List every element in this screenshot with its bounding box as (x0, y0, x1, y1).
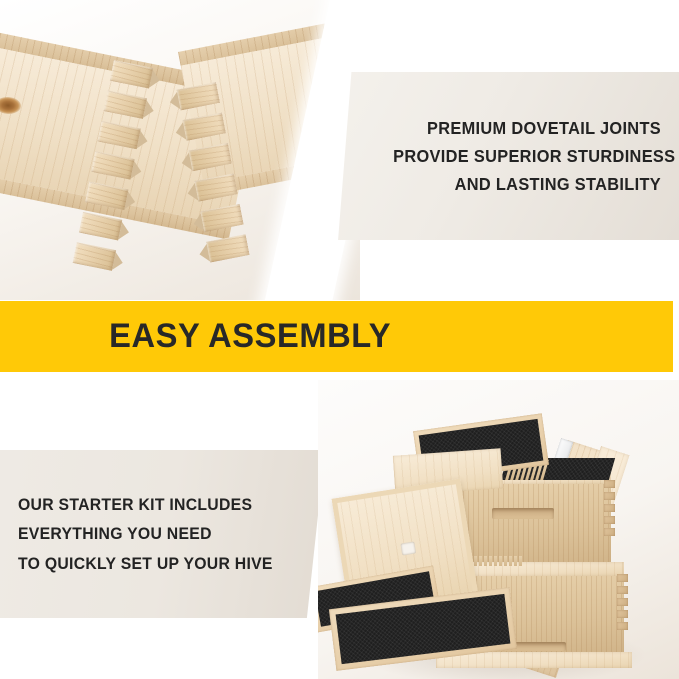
hive-box-upper-handle (492, 508, 554, 519)
frame-slat (489, 556, 492, 566)
frame-slat (474, 556, 477, 566)
easy-assembly-banner: EASY ASSEMBLY (0, 301, 673, 372)
dovetail-pin (617, 574, 628, 582)
frame-slat (509, 556, 512, 566)
dovetail-pin (604, 480, 615, 488)
joint-tab (189, 143, 232, 171)
frame-slat (514, 556, 517, 566)
joint-tab (183, 113, 226, 141)
feature-text-panel-top: PREMIUM DOVETAIL JOINTS PROVIDE SUPERIOR… (336, 72, 679, 240)
feature-text-panel-bottom: OUR STARTER KIT INCLUDES EVERYTHING YOU … (0, 450, 330, 618)
joint-tab (79, 212, 122, 241)
feature-top-line-1: PREMIUM DOVETAIL JOINTS (393, 114, 661, 142)
dovetail-pins-upper-right (604, 480, 615, 536)
dovetail-pin (617, 622, 628, 630)
dovetail-pin (604, 504, 615, 512)
frame-slat (479, 556, 482, 566)
joint-tab (194, 173, 237, 201)
frame-slat (504, 556, 507, 566)
frame-slat (484, 556, 487, 566)
frame-slat (494, 556, 497, 566)
product-feature-graphic: PREMIUM DOVETAIL JOINTS PROVIDE SUPERIOR… (0, 0, 679, 679)
feature-top-line-2: PROVIDE SUPERIOR STURDINESS (393, 142, 661, 170)
dovetail-pin (617, 610, 628, 618)
joint-tab (73, 242, 116, 271)
joint-tab (206, 234, 249, 262)
beehive-kit-photo (318, 380, 679, 679)
wood-knot (0, 96, 21, 115)
beehive-assembly (318, 380, 679, 679)
joint-tab (177, 82, 220, 110)
joint-tab (91, 151, 134, 180)
dovetail-pin (604, 516, 615, 524)
feature-top-line-3: AND LASTING STABILITY (393, 170, 661, 198)
inner-cover-vent-hole (400, 542, 416, 556)
joint-tab (97, 121, 140, 150)
dovetail-pin (604, 528, 615, 536)
dovetail-pin (604, 492, 615, 500)
joint-tab (104, 90, 147, 119)
feature-bottom-line-1: OUR STARTER KIT INCLUDES (18, 490, 295, 520)
frame-slat (519, 556, 522, 566)
joint-tab (200, 204, 243, 232)
frame-slat (499, 556, 502, 566)
dovetail-pins-lower-right (617, 574, 628, 630)
feature-bottom-line-3: TO QUICKLY SET UP YOUR HIVE (18, 549, 295, 579)
joint-tab (85, 182, 128, 211)
feature-bottom-line-2: EVERYTHING YOU NEED (18, 519, 295, 549)
dovetail-pin (617, 598, 628, 606)
dovetail-pin (617, 586, 628, 594)
banner-title: EASY ASSEMBLY (13, 317, 659, 356)
